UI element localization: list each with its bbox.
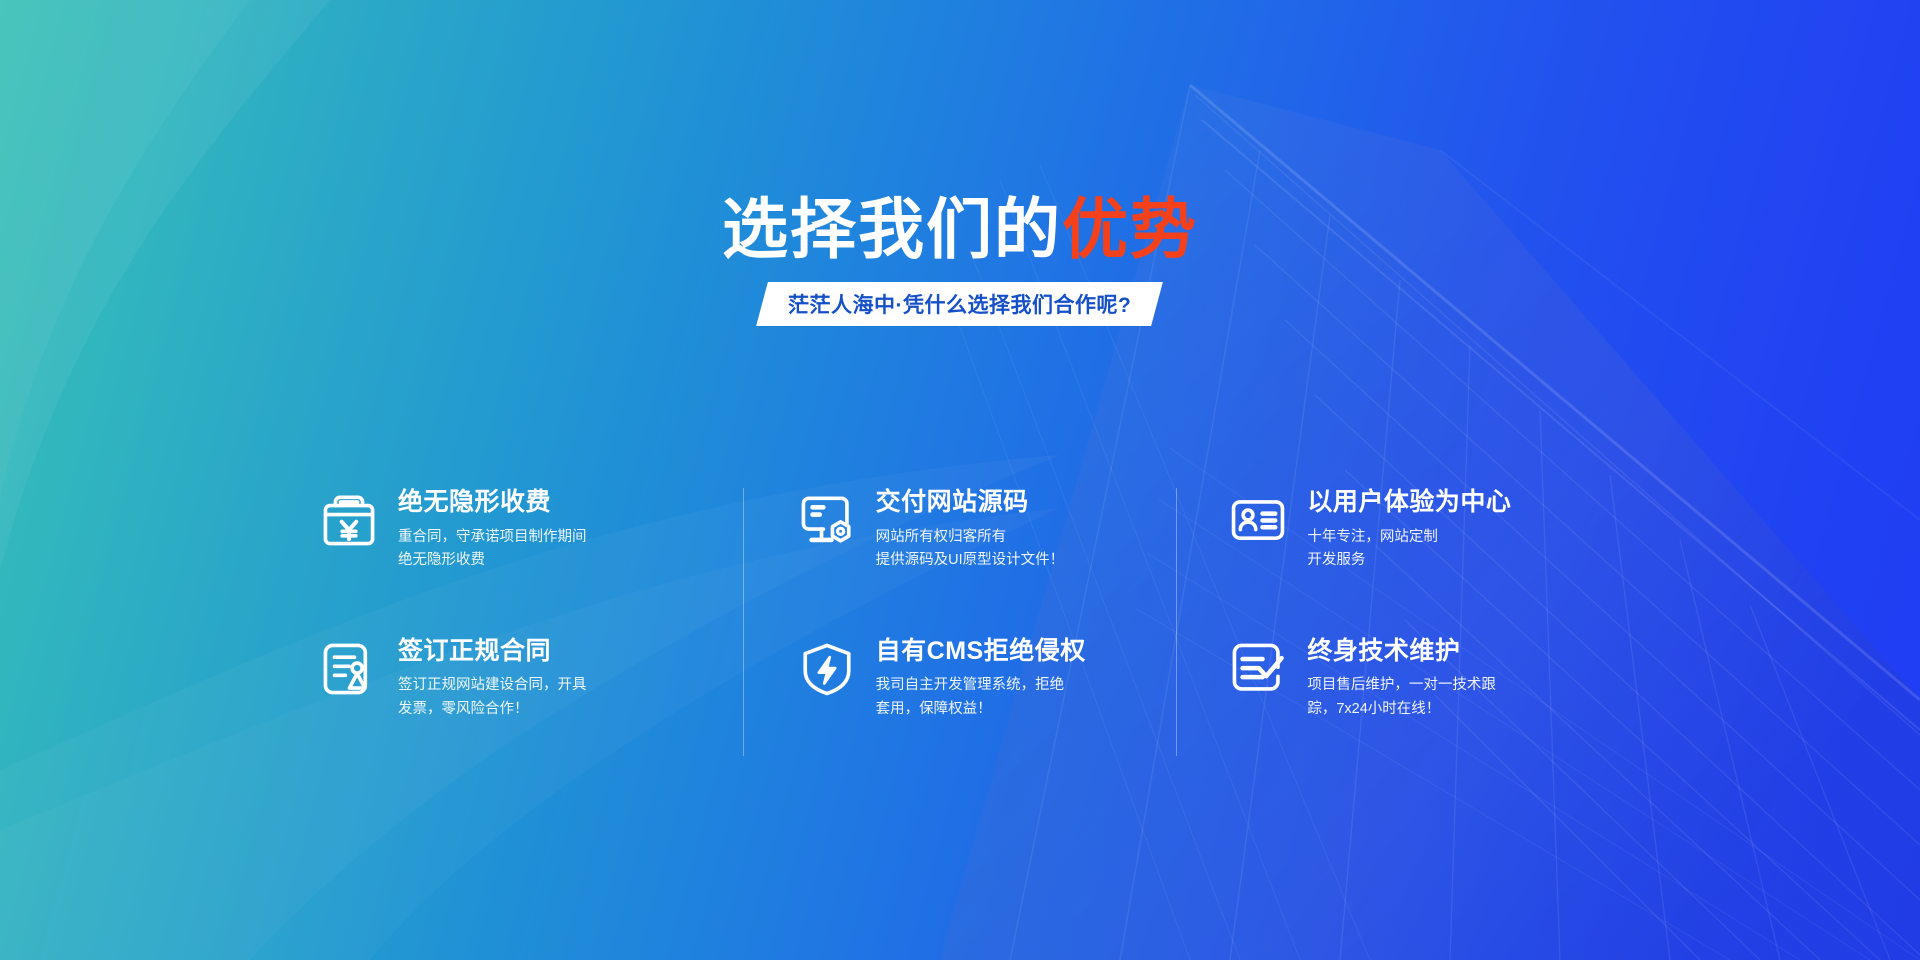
- feature-description: 项目售后维护，一对一技术跟 踪，7x24小时在线！: [1307, 674, 1496, 721]
- feature-description: 签订正规网站建设合同，开具 发票，零风险合作！: [398, 674, 587, 721]
- feature-title: 签订正规合同: [398, 637, 587, 666]
- subtitle-banner: 茫茫人海中·凭什么选择我们合作呢?: [756, 282, 1163, 326]
- promo-banner: 选择我们的优势 茫茫人海中·凭什么选择我们合作呢?: [0, 0, 1920, 960]
- title-primary-text: 选择我们的: [722, 192, 1062, 266]
- feature-title: 以用户体验为中心: [1307, 488, 1511, 517]
- contract-person-icon: [320, 640, 378, 698]
- banner-header: 选择我们的优势 茫茫人海中·凭什么选择我们合作呢?: [0, 196, 1920, 326]
- feature-title: 终身技术维护: [1307, 637, 1496, 666]
- feature-description: 重合同，守承诺项目制作期间 绝无隐形收费: [398, 526, 587, 573]
- skyscraper-background-image: [940, 0, 1920, 960]
- feature-title: 绝无隐形收费: [398, 488, 587, 517]
- feature-column-2: 交付网站源码 网站所有权归客所有 提供源码及UI原型设计文件！ 自有CMS拒绝侵…: [744, 486, 1177, 721]
- clipboard-yuan-icon: [320, 491, 378, 549]
- feature-item-formal-contract[interactable]: 签订正规合同 签订正规网站建设合同，开具 发票，零风险合作！: [320, 635, 713, 722]
- monitor-gear-icon: [798, 491, 856, 549]
- feature-description: 网站所有权归客所有 提供源码及UI原型设计文件！: [876, 526, 1065, 573]
- feature-title: 自有CMS拒绝侵权: [876, 637, 1086, 666]
- title-accent-text: 优势: [1062, 192, 1198, 266]
- checklist-check-icon: [1229, 640, 1287, 698]
- feature-description: 我司自主开发管理系统，拒绝 套用，保障权益！: [876, 674, 1086, 721]
- feature-column-3: 以用户体验为中心 十年专注，网站定制 开发服务: [1177, 486, 1610, 721]
- feature-grid: 绝无隐形收费 重合同，守承诺项目制作期间 绝无隐形收费: [310, 486, 1610, 756]
- shield-bolt-icon: [798, 640, 856, 698]
- subtitle-text: 茫茫人海中·凭什么选择我们合作呢?: [788, 289, 1131, 319]
- feature-item-no-hidden-fees[interactable]: 绝无隐形收费 重合同，守承诺项目制作期间 绝无隐形收费: [320, 486, 713, 573]
- feature-item-user-experience[interactable]: 以用户体验为中心 十年专注，网站定制 开发服务: [1229, 486, 1600, 573]
- feature-description: 十年专注，网站定制 开发服务: [1307, 526, 1511, 573]
- page-title: 选择我们的优势: [0, 196, 1920, 262]
- feature-column-1: 绝无隐形收费 重合同，守承诺项目制作期间 绝无隐形收费: [310, 486, 743, 721]
- feature-item-lifetime-maintenance[interactable]: 终身技术维护 项目售后维护，一对一技术跟 踪，7x24小时在线！: [1229, 635, 1600, 722]
- feature-item-source-code[interactable]: 交付网站源码 网站所有权归客所有 提供源码及UI原型设计文件！: [798, 486, 1147, 573]
- wave-overlay: [0, 0, 1920, 960]
- feature-title: 交付网站源码: [876, 488, 1065, 517]
- id-card-icon: [1229, 491, 1287, 549]
- feature-item-own-cms[interactable]: 自有CMS拒绝侵权 我司自主开发管理系统，拒绝 套用，保障权益！: [798, 635, 1147, 722]
